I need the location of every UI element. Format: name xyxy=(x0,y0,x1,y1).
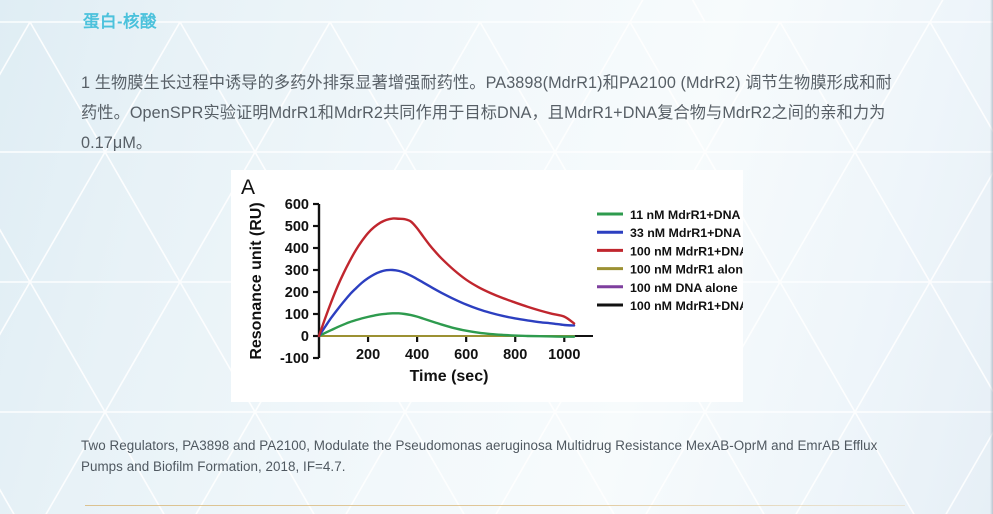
figure-caption: Two Regulators, PA3898 and PA2100, Modul… xyxy=(81,436,911,477)
legend-label: 11 nM MdrR1+DNA xyxy=(630,208,741,222)
legend-label: 100 nM DNA alone xyxy=(630,281,738,295)
legend-label: 100 nM MdrR1+DNA xyxy=(630,244,743,258)
panel-label: A xyxy=(241,176,255,199)
bottom-divider xyxy=(85,505,905,506)
legend-label: 100 nM MdrR1+DNA-Δmotif xyxy=(630,299,743,313)
x-tick-label: 1000 xyxy=(548,347,580,363)
y-tick-label: 600 xyxy=(285,197,309,213)
chart-series-line xyxy=(319,313,574,336)
x-tick-label: 400 xyxy=(405,347,429,363)
legend-label: 100 nM MdrR1 alone xyxy=(630,263,743,277)
page-title: 蛋白-核酸 xyxy=(83,8,157,32)
y-tick-label: 300 xyxy=(285,263,309,279)
figure-card: A-10001002003004005006002004006008001000… xyxy=(231,170,743,402)
chart-series-line xyxy=(319,218,574,336)
body-paragraph: 1 生物膜生长过程中诱导的多药外排泵显著增强耐药性。PA3898(MdrR1)和… xyxy=(81,68,903,158)
x-tick-label: 200 xyxy=(356,347,380,363)
y-tick-label: 100 xyxy=(285,307,309,323)
y-axis-title: Resonance unit (RU) xyxy=(248,202,265,359)
y-tick-label: -100 xyxy=(280,351,309,367)
legend-label: 33 nM MdrR1+DNA xyxy=(630,226,741,240)
x-tick-label: 800 xyxy=(503,347,527,363)
y-tick-label: 200 xyxy=(285,285,309,301)
sensorgram-chart: A-10001002003004005006002004006008001000… xyxy=(231,170,743,402)
y-tick-label: 400 xyxy=(285,241,309,257)
x-axis-title: Time (sec) xyxy=(410,368,489,385)
slide-page: 蛋白-核酸 1 生物膜生长过程中诱导的多药外排泵显著增强耐药性。PA3898(M… xyxy=(0,0,993,514)
y-tick-label: 0 xyxy=(301,329,309,345)
y-tick-label: 500 xyxy=(285,219,309,235)
x-tick-label: 600 xyxy=(454,347,478,363)
